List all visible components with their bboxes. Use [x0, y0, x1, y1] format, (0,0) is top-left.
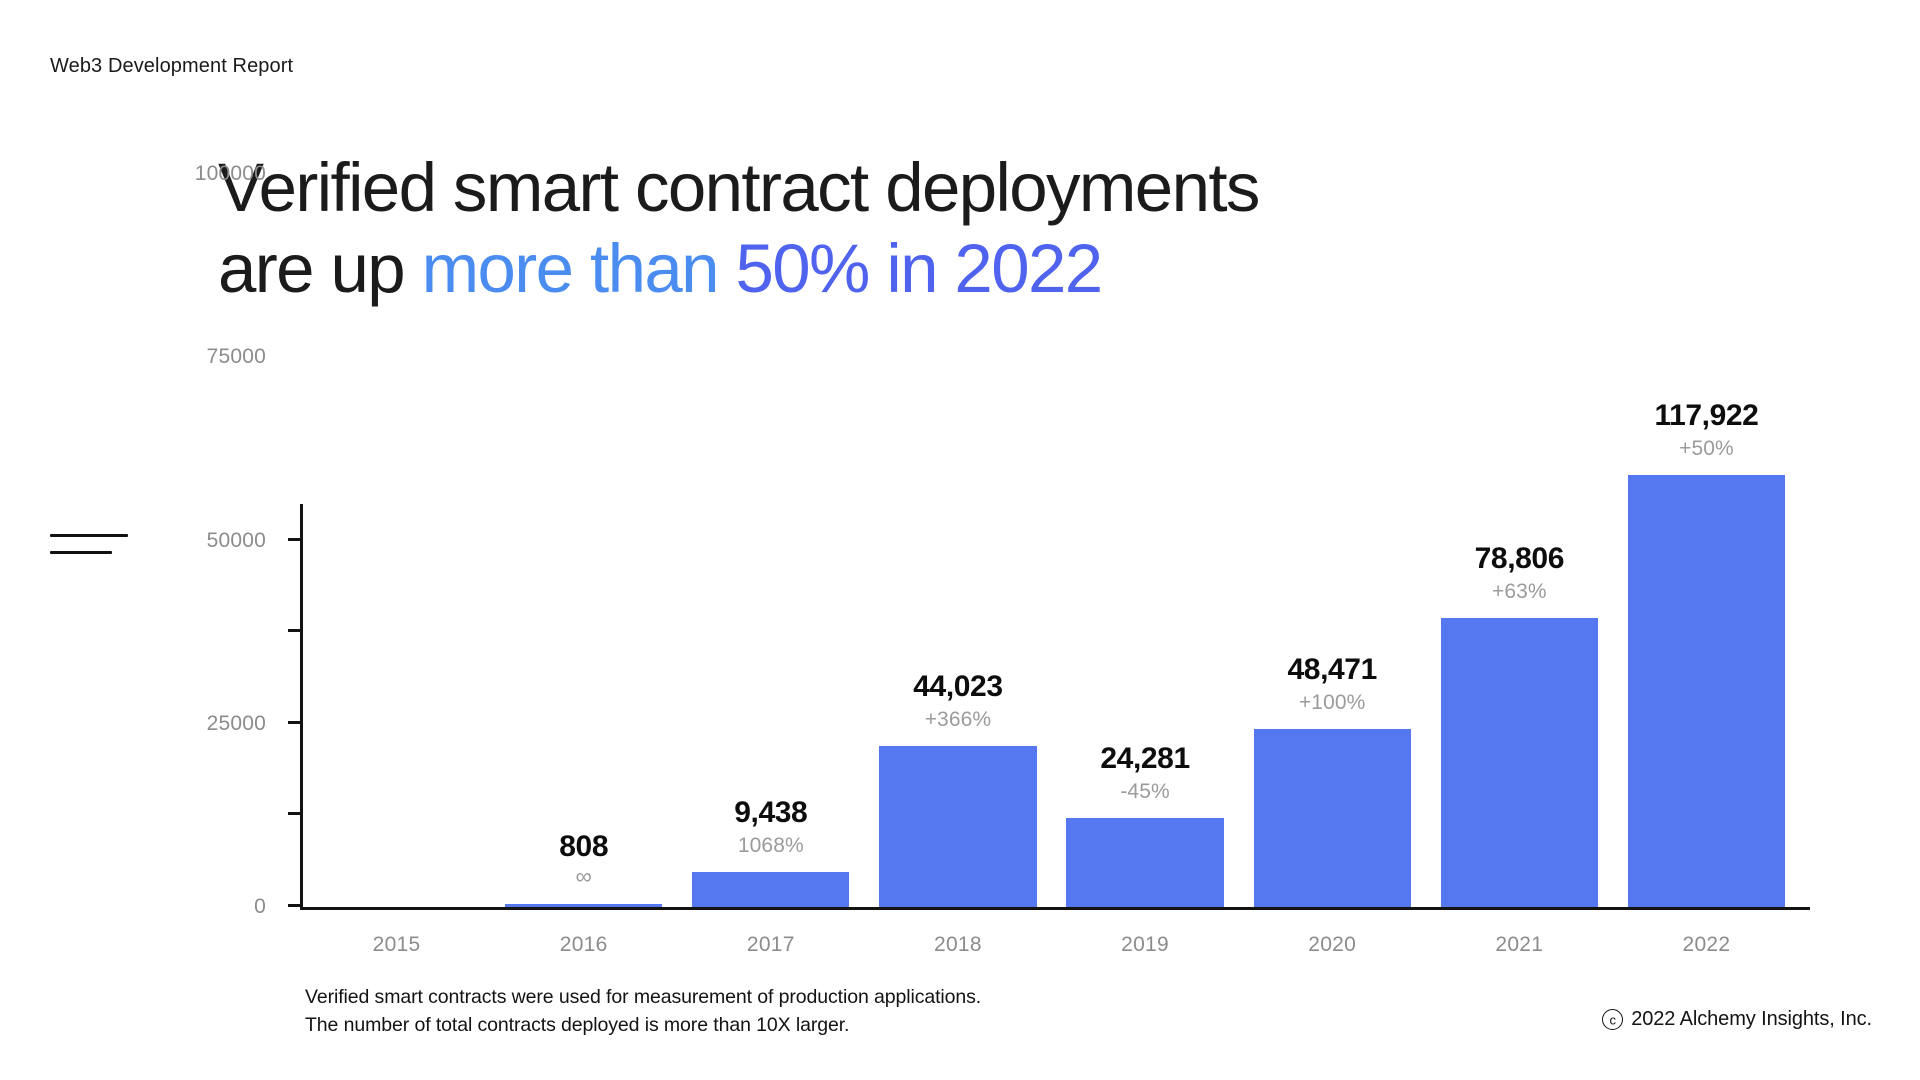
bar[interactable] [1254, 729, 1411, 907]
report-label: Web3 Development Report [50, 55, 293, 78]
page-title: Verified smart contract deployments are … [218, 148, 1668, 309]
bar[interactable] [879, 746, 1036, 907]
bar-change-label: -45% [1120, 780, 1169, 804]
bar[interactable] [1066, 818, 1223, 907]
bar-group[interactable]: +100%48,4712020 [1239, 470, 1426, 907]
copyright: 2022 Alchemy Insights, Inc. [1602, 1008, 1872, 1031]
copyright-text: 2022 Alchemy Insights, Inc. [1631, 1008, 1872, 1031]
dash-line-top [50, 534, 128, 537]
bar-group[interactable]: -45%24,2812019 [1052, 470, 1239, 907]
bar-change-label: +50% [1679, 437, 1734, 461]
slide-root: Web3 Development Report Verified smart c… [0, 0, 1920, 1080]
bar-value-label: 24,281 [1100, 742, 1189, 776]
copyright-icon [1602, 1009, 1623, 1030]
x-axis-line [300, 907, 1810, 910]
plot-area: 2015∞80820161068%9,4382017+366%44,023201… [303, 470, 1800, 907]
y-tick-label: 75000 [207, 345, 266, 369]
bar-group[interactable]: 2015 [303, 470, 490, 907]
footnote: Verified smart contracts were used for m… [305, 984, 981, 1039]
decorative-dashes [50, 534, 128, 554]
bar-chart: 2015∞80820161068%9,4382017+366%44,023201… [300, 470, 1800, 910]
bar-group[interactable]: +366%44,0232018 [864, 470, 1051, 907]
x-tick-label: 2018 [934, 933, 982, 957]
bar-change-label: +100% [1299, 691, 1365, 715]
x-tick-label: 2016 [560, 933, 608, 957]
bar[interactable] [692, 872, 849, 907]
bar-change-label: +63% [1492, 580, 1547, 604]
x-tick-label: 2017 [747, 933, 795, 957]
bar-group[interactable]: +50%117,9222022 [1613, 470, 1800, 907]
bar-change-label: +366% [925, 708, 991, 732]
bar-value-label: 78,806 [1475, 542, 1564, 576]
bar-change-label: 1068% [738, 834, 804, 858]
y-tick: 100000 [288, 538, 300, 541]
x-tick-label: 2020 [1308, 933, 1356, 957]
bar-group[interactable]: 1068%9,4382017 [677, 470, 864, 907]
y-tick-label: 50000 [207, 529, 266, 553]
y-tick-label: 0 [254, 895, 266, 919]
bar-value-label: 808 [559, 830, 608, 864]
bar[interactable] [505, 904, 662, 907]
bar-group[interactable]: +63%78,8062021 [1426, 470, 1613, 907]
x-tick-label: 2021 [1495, 933, 1543, 957]
bar-value-label: 117,922 [1654, 399, 1758, 433]
bar-change-label: ∞ [575, 863, 592, 890]
y-tick: 50000 [288, 721, 300, 724]
y-tick: 0 [288, 904, 300, 907]
title-line-2-blue-a: more than [422, 230, 736, 307]
dash-line-bottom [50, 551, 112, 554]
bar-value-label: 48,471 [1288, 653, 1377, 687]
bar-value-label: 9,438 [734, 796, 807, 830]
title-line-1: Verified smart contract deployments [218, 149, 1259, 226]
title-line-2-black: are up [218, 230, 422, 307]
y-tick-label: 100000 [195, 162, 266, 186]
x-tick-label: 2022 [1682, 933, 1730, 957]
bar[interactable] [1628, 475, 1785, 907]
title-line-2-blue-b: 50% in 2022 [735, 230, 1101, 307]
x-tick-label: 2015 [373, 933, 421, 957]
y-tick: 75000 [288, 629, 300, 632]
x-tick-label: 2019 [1121, 933, 1169, 957]
y-tick: 25000 [288, 812, 300, 815]
bar-value-label: 44,023 [913, 670, 1002, 704]
bar[interactable] [1441, 618, 1598, 907]
y-tick-label: 25000 [207, 712, 266, 736]
bar-group[interactable]: ∞8082016 [490, 470, 677, 907]
